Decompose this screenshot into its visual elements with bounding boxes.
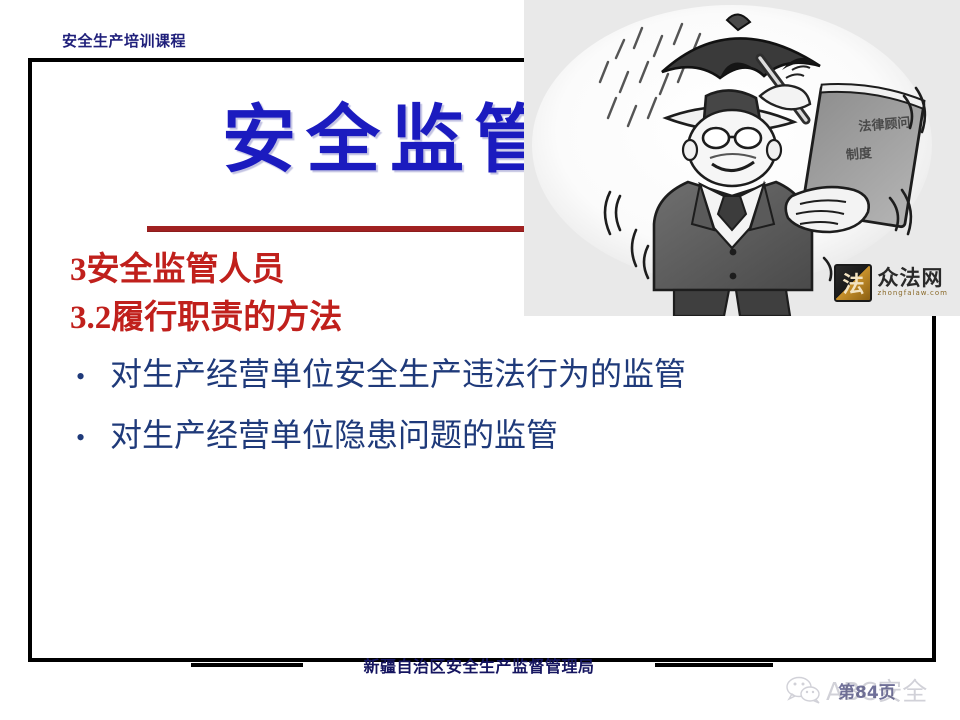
- illustration-watermark-logo: 法 众法网 zhongfalaw.com: [834, 264, 948, 302]
- bullet-marker-icon: •: [70, 412, 110, 464]
- illustration-logo-name: 众法网: [877, 268, 948, 289]
- list-item: • 对生产经营单位安全生产违法行为的监管: [70, 348, 870, 403]
- watermark-label: ABC安全: [826, 672, 927, 708]
- list-item-label: 对生产经营单位安全生产违法行为的监管: [110, 348, 686, 400]
- list-item: • 对生产经营单位隐患问题的监管: [70, 409, 870, 464]
- footer-rule-left: [191, 663, 303, 667]
- wechat-icon: [786, 675, 820, 705]
- course-header-text: 安全生产培训课程: [62, 30, 186, 51]
- illustration-logo-domain: zhongfalaw.com: [877, 289, 948, 298]
- book-title-line-2: 制度: [845, 145, 873, 163]
- law-character-logo-icon: 法: [834, 264, 872, 302]
- presentation-slide: 安全生产培训课程 安全监管 3安全监管人员 3.2履行职责的方法 • 对生产经营…: [0, 0, 960, 720]
- footer-rule-right: [655, 663, 773, 667]
- bullet-marker-icon: •: [70, 351, 110, 403]
- list-item-label: 对生产经营单位隐患问题的监管: [110, 409, 558, 461]
- footer-organization-label: 新疆自治区安全生产监督管理局: [363, 653, 594, 677]
- illustration-image: 法律顾问 制度: [524, 0, 960, 316]
- illustration-logo-words: 众法网 zhongfalaw.com: [877, 268, 948, 298]
- watermark: ABC安全: [786, 672, 927, 708]
- law-character-glyph: 法: [836, 267, 870, 299]
